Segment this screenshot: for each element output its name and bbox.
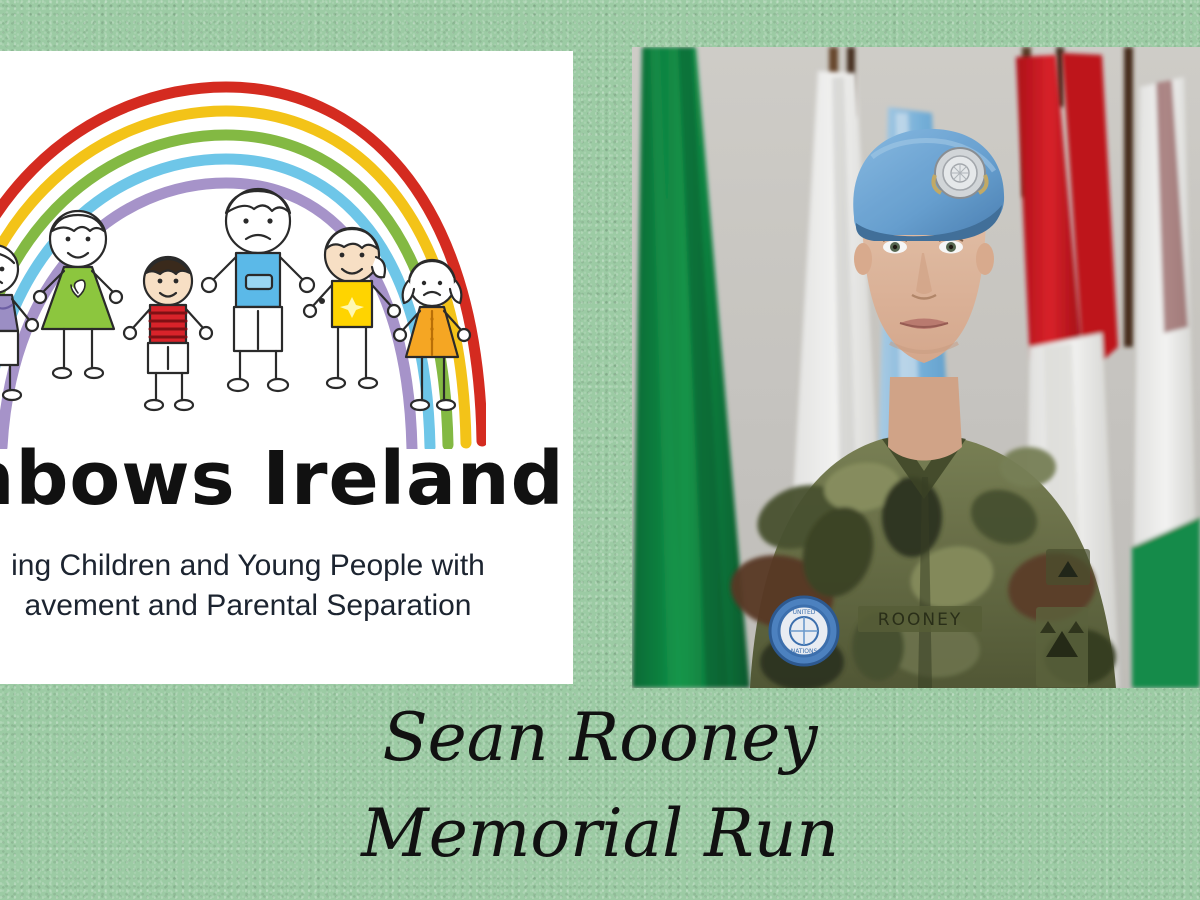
poster-title-line-1: Sean Rooney	[382, 690, 817, 786]
poster-title-line-2: Memorial Run	[361, 786, 839, 882]
logo-tagline: ing Children and Young People with aveme…	[0, 546, 573, 626]
poster-title: Sean Rooney Memorial Run	[0, 690, 1200, 900]
rainbows-ireland-logo-card: inbows Ireland ing Children and Young Pe…	[0, 51, 573, 684]
soldier-photo-graphic: UNITEDNATIONS ROONEY	[632, 47, 1200, 688]
soldier-photo: UNITEDNATIONS ROONEY	[632, 47, 1200, 688]
children-illustration-icon	[0, 181, 472, 431]
logo-tagline-line-2: avement and Parental Separation	[0, 586, 573, 626]
logo-tagline-line-1: ing Children and Young People with	[0, 546, 573, 586]
logo-wordmark: inbows Ireland	[0, 436, 573, 522]
